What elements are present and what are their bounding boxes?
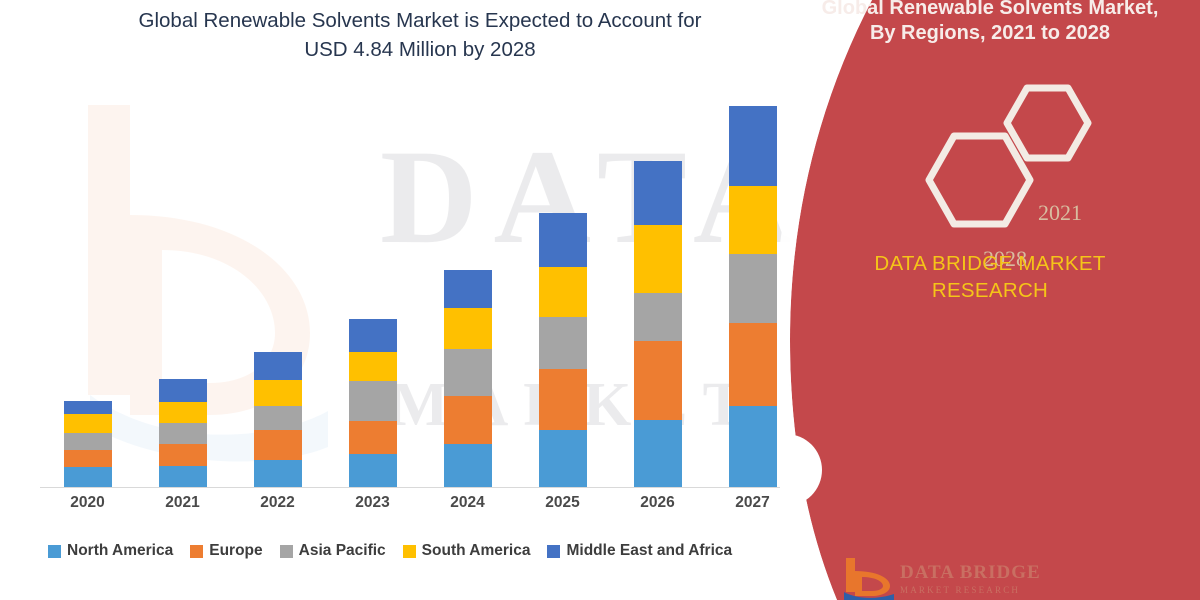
bar-segment: [64, 414, 112, 433]
bar-segment: [729, 254, 777, 323]
brand-line1: DATA BRIDGE MARKET: [874, 252, 1105, 275]
bar-segment: [349, 454, 397, 487]
chart-title: Global Renewable Solvents Market is Expe…: [50, 6, 790, 64]
bar-segment: [444, 349, 492, 396]
bar-segment: [159, 402, 207, 423]
bar-segment: [539, 369, 587, 431]
legend-label: Middle East and Africa: [566, 542, 732, 560]
bar-segment: [159, 423, 207, 444]
bar-segment: [539, 430, 587, 487]
legend-swatch-icon: [280, 545, 293, 558]
chart-title-line2: USD 4.84 Million by 2028: [304, 38, 535, 61]
bar-segment: [349, 319, 397, 352]
bar-segment: [254, 460, 302, 487]
legend-label: Asia Pacific: [299, 542, 386, 560]
bar-segment: [634, 341, 682, 420]
legend-item[interactable]: South America: [403, 542, 531, 560]
legend-item[interactable]: Europe: [190, 542, 262, 560]
chart-title-line1: Global Renewable Solvents Market is Expe…: [139, 9, 702, 32]
bar-segment: [444, 396, 492, 444]
bar-group-2021: [159, 379, 207, 487]
bar-group-2024: [444, 270, 492, 487]
panel-title-line2: By Regions, 2021 to 2028: [780, 21, 1200, 46]
infographic-canvas: DATA BRIDGE MARKET RESEARCH Global Renew…: [0, 0, 1200, 600]
legend-swatch-icon: [190, 545, 203, 558]
bar-segment: [729, 406, 777, 487]
bar-segment: [729, 323, 777, 406]
brand-line2: RESEARCH: [932, 279, 1048, 302]
bar-segment: [729, 106, 777, 186]
legend-swatch-icon: [48, 545, 61, 558]
footer-logo: DATA BRIDGE MARKET RESEARCH: [842, 558, 1092, 600]
panel-title: Global Renewable Solvents Market, By Reg…: [780, 0, 1200, 46]
legend-swatch-icon: [547, 545, 560, 558]
x-axis-line: [40, 487, 800, 488]
legend-item[interactable]: Middle East and Africa: [547, 542, 732, 560]
footer-logo-mark-icon: [842, 558, 894, 600]
x-axis-label-2023: 2023: [328, 494, 418, 512]
bar-segment: [444, 308, 492, 349]
bar-segment: [444, 270, 492, 309]
legend-label: Europe: [209, 542, 262, 560]
brand-name: DATA BRIDGE MARKET RESEARCH: [780, 250, 1200, 304]
x-axis-label-2020: 2020: [43, 494, 133, 512]
panel-title-line1: Global Renewable Solvents Market,: [780, 0, 1200, 21]
bar-segment: [159, 379, 207, 402]
chart-plot-area: [40, 90, 800, 488]
bar-segment: [539, 317, 587, 369]
chart-legend: North AmericaEuropeAsia PacificSouth Ame…: [48, 538, 749, 564]
bar-segment: [444, 444, 492, 487]
bar-segment: [634, 161, 682, 226]
right-brand-panel: Global Renewable Solvents Market, By Reg…: [780, 0, 1200, 600]
bar-segment: [539, 213, 587, 267]
hexagon-label-2021: 2021: [1038, 200, 1082, 226]
bar-group-2026: [634, 161, 682, 487]
bar-segment: [159, 444, 207, 465]
hexagon-outline-icon: [780, 78, 1200, 243]
legend-item[interactable]: North America: [48, 542, 173, 560]
bar-segment: [254, 430, 302, 460]
footer-logo-name: DATA BRIDGE: [900, 562, 1041, 584]
bar-segment: [634, 420, 682, 487]
x-axis-label-2021: 2021: [138, 494, 228, 512]
legend-label: North America: [67, 542, 173, 560]
bar-group-2023: [349, 319, 397, 487]
bar-group-2025: [539, 213, 587, 487]
bar-segment: [349, 352, 397, 382]
legend-item[interactable]: Asia Pacific: [280, 542, 386, 560]
x-axis-label-2025: 2025: [518, 494, 608, 512]
bar-segment: [159, 466, 207, 487]
bar-segment: [64, 401, 112, 414]
bar-segment: [349, 381, 397, 421]
bar-segment: [254, 380, 302, 406]
x-axis-label-2026: 2026: [613, 494, 703, 512]
bar-segment: [539, 267, 587, 317]
bar-segment: [64, 467, 112, 487]
bar-group-2020: [64, 401, 112, 487]
bar-segment: [64, 433, 112, 450]
footer-logo-tagline: MARKET RESEARCH: [900, 585, 1020, 595]
bar-group-2027: [729, 106, 777, 487]
bar-group-2022: [254, 352, 302, 487]
bar-segment: [349, 421, 397, 454]
bar-segment: [64, 450, 112, 467]
bar-segment: [254, 406, 302, 431]
x-axis-label-2024: 2024: [423, 494, 513, 512]
bar-segment: [729, 186, 777, 254]
bar-segment: [634, 225, 682, 292]
legend-label: South America: [422, 542, 531, 560]
x-axis-label-2022: 2022: [233, 494, 323, 512]
bar-segment: [634, 293, 682, 341]
hexagon-group: 2028 2021: [780, 78, 1200, 243]
x-axis-labels: 20202021202220232024202520262027: [40, 494, 800, 520]
legend-swatch-icon: [403, 545, 416, 558]
bar-segment: [254, 352, 302, 380]
